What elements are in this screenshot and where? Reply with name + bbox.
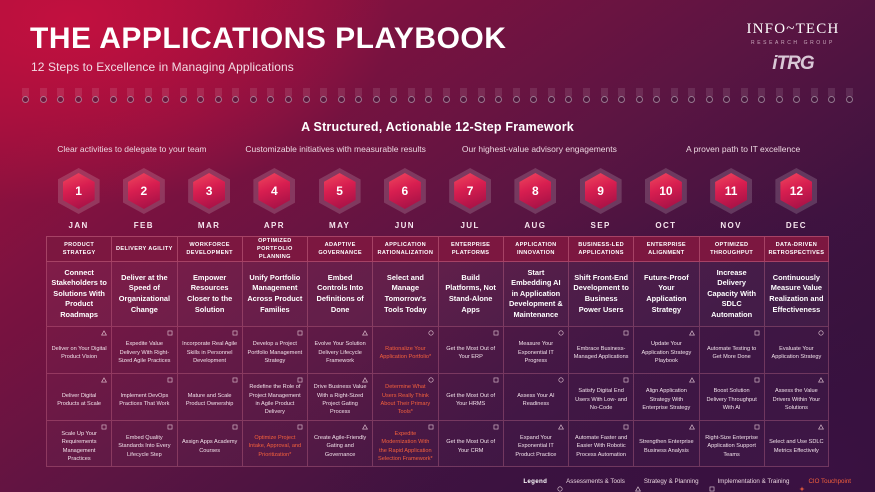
circle-icon [557,479,563,485]
headline-10[interactable]: Increase Delivery Capacity With SDLC Aut… [699,262,764,326]
initiative-0-0[interactable]: Deliver on Your Digital Product Vision [46,326,111,373]
table-row: Deliver Digital Products at ScaleImpleme… [46,373,829,420]
initiative-cell: Expedite Modernization With the Rapid Ap… [372,420,437,467]
initiative-label: Automate Testing to Get More Done [704,345,760,362]
legend: Legend Assessments & ToolsStrategy & Pla… [523,478,851,485]
initiative-label: Scale Up Your Requirements Management Pr… [51,430,107,464]
initiative-1-1[interactable]: Implement DevOps Practices That Work [111,373,176,420]
perforation-hole [671,96,678,103]
page-title: THE APPLICATIONS PLAYBOOK [30,24,506,54]
perforation-hole [215,96,222,103]
triangle-icon [818,424,824,430]
initiative-cell: Automate Testing to Get More Done [699,326,764,373]
initiative-cell: Embed Quality Standards Into Every Lifec… [111,420,176,467]
square-icon [754,377,760,383]
initiative-1-11[interactable]: Assess the Value Drivers Within Your Sol… [764,373,829,420]
headline-cell: Deliver at the Speed of Organizational C… [111,262,176,326]
initiative-label: Get the Most Out of Your HRMS [443,392,499,409]
category-cell: DATA-DRIVEN RETROSPECTIVES [764,236,829,262]
initiative-1-6[interactable]: Get the Most Out of Your HRMS [438,373,503,420]
square-icon [428,424,434,430]
perforation-hole [57,96,64,103]
perforation-strip [0,88,875,106]
framework-subtitle-1: Customizable initiatives with measurable… [234,144,438,154]
initiative-rows: Deliver on Your Digital Product VisionEx… [46,326,829,467]
month-number: 11 [725,184,738,198]
headline-label: Connect Stakeholders to Solutions With P… [51,268,107,321]
month-badge-may[interactable]: 5MAY [307,168,372,232]
perforation-hole [478,96,485,103]
month-badge-feb[interactable]: 2FEB [111,168,176,232]
headline-cell: Shift Front-End Development to Business … [568,262,633,326]
category-header-0[interactable]: PRODUCT STRATEGY [46,236,111,262]
perforation-hole [110,96,117,103]
initiative-label: Drive Business Value With a Right-Sized … [312,383,368,417]
headline-cell: Select and Manage Tomorrow's Tools Today [372,262,437,326]
square-icon [709,479,715,485]
hexagon-badge: 2 [123,168,165,214]
initiative-0-7[interactable]: Measure Your Exponential IT Progress [503,326,568,373]
framework-grid: PRODUCT STRATEGYDELIVERY AGILITYWORKFORC… [46,236,829,467]
initiative-0-9[interactable]: Update Your Application Strategy Playboo… [633,326,698,373]
initiative-cell: Determine What Users Really Think About … [372,373,437,420]
square-icon [493,330,499,336]
legend-label: Implementation & Training [718,478,790,485]
month-label: JAN [69,221,89,230]
category-header-7[interactable]: APPLICATION INNOVATION [503,236,568,262]
perforation-hole [40,96,47,103]
square-icon [754,424,760,430]
headline-3[interactable]: Unify Portfolio Management Across Produc… [242,262,307,326]
initiative-1-3[interactable]: Redefine the Role of Project Management … [242,373,307,420]
category-header-8[interactable]: BUSINESS-LED APPLICATIONS [568,236,633,262]
initiative-cell: Automate Faster and Easier With Robotic … [568,420,633,467]
triangle-icon [635,479,641,485]
headline-label: Shift Front-End Development to Business … [573,273,629,315]
circle-icon [558,377,564,383]
initiative-1-10[interactable]: Boost Solution Delivery Throughput With … [699,373,764,420]
month-label: MAR [198,221,220,230]
headline-5[interactable]: Select and Manage Tomorrow's Tools Today [372,262,437,326]
initiative-2-6[interactable]: Get the Most Out of Your CRM [438,420,503,467]
initiative-2-8[interactable]: Automate Faster and Easier With Robotic … [568,420,633,467]
month-number: 8 [532,184,539,198]
perforation-hole [460,96,467,103]
initiative-label: Boost Solution Delivery Throughput With … [704,387,760,412]
category-header-5[interactable]: APPLICATION RATIONALIZATION [372,236,437,262]
category-label: WORKFORCE DEVELOPMENT [180,241,240,257]
hexagon-badge: 11 [710,168,752,214]
initiative-0-6[interactable]: Get the Most Out of Your ERP [438,326,503,373]
initiative-cell: Select and Use SDLC Metrics Effectively [764,420,829,467]
category-header-9[interactable]: ENTERPRISE ALIGNMENT [633,236,698,262]
page-subtitle: 12 Steps to Excellence in Managing Appli… [31,60,294,74]
hexagon-badge: 1 [58,168,100,214]
triangle-icon [558,424,564,430]
category-cell: PRODUCT STRATEGY [46,236,111,262]
triangle-icon [818,377,824,383]
square-icon [623,330,629,336]
month-badge-row: 1JAN2FEB3MAR4APR5MAY6JUN7JUL8AUG9SEP10OC… [46,168,829,232]
month-badge-sep[interactable]: 9SEP [568,168,633,232]
month-badge-nov[interactable]: 11NOV [699,168,764,232]
initiative-cell: Drive Business Value With a Right-Sized … [307,373,372,420]
initiative-label: Mature and Scale Product Ownership [182,392,238,409]
month-badge-apr[interactable]: 4APR [242,168,307,232]
initiative-label: Evaluate Your Application Strategy [769,345,824,362]
framework-subtitle-2: Our highest-value advisory engagements [438,144,642,154]
framework-subtitle-0: Clear activities to delegate to your tea… [30,144,234,154]
initiative-cell: Scale Up Your Requirements Management Pr… [46,420,111,467]
month-badge-jan[interactable]: 1JAN [46,168,111,232]
month-number: 3 [206,184,213,198]
initiative-cell: Embrace Business-Managed Applications [568,326,633,373]
hexagon-badge: 12 [775,168,817,214]
perforation-hole [320,96,327,103]
category-cell: ENTERPRISE ALIGNMENT [633,236,698,262]
perforation-hole [22,96,29,103]
perforation-hole [583,96,590,103]
perforation-hole [338,96,345,103]
circle-icon [818,330,824,336]
headline-label: Deliver at the Speed of Organizational C… [116,273,172,315]
initiative-cell: Create Agile-Friendly Gating and Governa… [307,420,372,467]
category-header-1[interactable]: DELIVERY AGILITY [111,236,176,262]
initiative-label: Implement DevOps Practices That Work [116,392,172,409]
headline-label: Future-Proof Your Application Strategy [638,273,694,315]
initiative-1-8[interactable]: Satisfy Digital End Users With Low- and … [568,373,633,420]
initiative-1-5[interactable]: Determine What Users Really Think About … [372,373,437,420]
initiative-2-11[interactable]: Select and Use SDLC Metrics Effectively [764,420,829,467]
category-cell: WORKFORCE DEVELOPMENT [177,236,242,262]
headline-11[interactable]: Continuously Measure Value Realization a… [764,262,829,326]
square-icon [232,330,238,336]
hexagon-badge: 4 [253,168,295,214]
category-cell: DELIVERY AGILITY [111,236,176,262]
perforation-hole [425,96,432,103]
circle-icon [558,330,564,336]
perforation-hole [162,96,169,103]
initiative-cell: Strengthen Enterprise Business Analysis [633,420,698,467]
logo-itrg: iTRG [733,53,853,75]
headline-8[interactable]: Shift Front-End Development to Business … [568,262,633,326]
initiative-cell: Align Application Strategy With Enterpri… [633,373,698,420]
square-icon [101,424,107,430]
headline-cell: Future-Proof Your Application Strategy [633,262,698,326]
initiative-2-5[interactable]: Expedite Modernization With the Rapid Ap… [372,420,437,467]
initiative-cell: Assess the Value Drivers Within Your Sol… [764,373,829,420]
initiative-label: Create Agile-Friendly Gating and Governa… [312,434,368,459]
category-header-4[interactable]: ADAPTIVE GOVERNANCE [307,236,372,262]
legend-item-assessment: Assessments & Tools [557,478,625,485]
category-cell: BUSINESS-LED APPLICATIONS [568,236,633,262]
headline-9[interactable]: Future-Proof Your Application Strategy [633,262,698,326]
perforation-hole [285,96,292,103]
hexagon-badge: 6 [384,168,426,214]
initiative-label: Right-Size Enterprise Application Suppor… [704,434,760,459]
headline-cell: Build Platforms, Not Stand-Alone Apps [438,262,503,326]
initiative-2-10[interactable]: Right-Size Enterprise Application Suppor… [699,420,764,467]
initiative-1-4[interactable]: Drive Business Value With a Right-Sized … [307,373,372,420]
month-number: 12 [790,184,803,198]
month-label: JUL [460,221,479,230]
square-icon [754,330,760,336]
initiative-cell: Get the Most Out of Your HRMS [438,373,503,420]
month-number: 2 [141,184,148,198]
headline-label: Start Embedding AI in Application Develo… [508,268,564,321]
month-badge-jul[interactable]: 7JUL [438,168,503,232]
perforation-hole [530,96,537,103]
hexagon-badge: 9 [580,168,622,214]
legend-label: CIO Touchpoint [808,478,851,485]
month-label: AUG [524,221,546,230]
perforation-hole [565,96,572,103]
headline-cell: Increase Delivery Capacity With SDLC Aut… [699,262,764,326]
initiative-label: Update Your Application Strategy Playboo… [638,340,694,365]
perforation-hole [846,96,853,103]
initiative-2-2[interactable]: Assign Apps Academy Courses [177,420,242,467]
initiative-label: Align Application Strategy With Enterpri… [638,387,694,412]
category-header-row: PRODUCT STRATEGYDELIVERY AGILITYWORKFORC… [46,236,829,262]
perforation-hole [92,96,99,103]
initiative-label: Develop a Project Portfolio Management S… [247,340,303,365]
square-icon [493,424,499,430]
month-label: DEC [786,221,807,230]
perforation-hole [267,96,274,103]
initiative-label: Expand Your Exponential IT Product Pract… [508,434,564,459]
category-label: BUSINESS-LED APPLICATIONS [571,241,631,257]
initiative-label: Deliver on Your Digital Product Vision [51,345,107,362]
category-header-11[interactable]: DATA-DRIVEN RETROSPECTIVES [764,236,829,262]
perforation-hole [793,96,800,103]
initiative-label: Strengthen Enterprise Business Analysis [638,438,694,455]
square-icon [167,377,173,383]
initiative-cell: Rationalize Your Application Portfolio* [372,326,437,373]
initiative-label: Satisfy Digital End Users With Low- and … [573,387,629,412]
initiative-cell: Assign Apps Academy Courses [177,420,242,467]
square-icon [623,424,629,430]
initiative-cell: Update Your Application Strategy Playboo… [633,326,698,373]
perforation-hole [443,96,450,103]
initiative-1-2[interactable]: Mature and Scale Product Ownership [177,373,242,420]
initiative-2-7[interactable]: Expand Your Exponential IT Product Pract… [503,420,568,467]
square-icon [297,424,303,430]
legend-item-cio: CIO Touchpoint [799,478,851,485]
headline-6[interactable]: Build Platforms, Not Stand-Alone Apps [438,262,503,326]
month-badge-dec[interactable]: 12DEC [764,168,829,232]
hexagon-badge: 3 [188,168,230,214]
headline-label: Increase Delivery Capacity With SDLC Aut… [704,268,760,321]
brand-logo: INFO~TECH RESEARCH GROUP iTRG [733,22,853,75]
perforation-hole [636,96,643,103]
initiative-0-10[interactable]: Automate Testing to Get More Done [699,326,764,373]
initiative-cell: Redefine the Role of Project Management … [242,373,307,420]
month-badge-jun[interactable]: 6JUN [372,168,437,232]
perforation-hole [811,96,818,103]
month-number: 1 [75,184,82,198]
initiative-label: Assign Apps Academy Courses [182,438,238,455]
logo-tagline: RESEARCH GROUP [733,40,853,46]
initiative-cell: Incorporate Real Agile Skills in Personn… [177,326,242,373]
category-label: DATA-DRIVEN RETROSPECTIVES [767,241,826,257]
initiative-label: Expedite Value Delivery With Right-Sized… [116,340,172,365]
month-number: 10 [659,184,672,198]
logo-wordmark: INFO~TECH [733,22,853,38]
initiative-label: Automate Faster and Easier With Robotic … [573,434,629,459]
initiative-0-11[interactable]: Evaluate Your Application Strategy [764,326,829,373]
initiative-2-9[interactable]: Strengthen Enterprise Business Analysis [633,420,698,467]
perforation-hole [373,96,380,103]
perforation-hole [653,96,660,103]
headline-cell: Empower Resources Closer to the Solution [177,262,242,326]
framework-subtitles: Clear activities to delegate to your tea… [30,144,845,154]
initiative-cell: Assess Your AI Readiness [503,373,568,420]
initiative-cell: Optimize Project Intake, Approval, and P… [242,420,307,467]
headline-cell: Unify Portfolio Management Across Produc… [242,262,307,326]
month-badge-aug[interactable]: 8AUG [503,168,568,232]
perforation-hole [145,96,152,103]
headline-2[interactable]: Empower Resources Closer to the Solution [177,262,242,326]
initiative-cell: Evolve Your Solution Delivery Lifecycle … [307,326,372,373]
hexagon-badge: 8 [514,168,556,214]
headline-7[interactable]: Start Embedding AI in Application Develo… [503,262,568,326]
playbook-poster: THE APPLICATIONS PLAYBOOK 12 Steps to Ex… [0,0,875,492]
square-icon [232,424,238,430]
month-label: FEB [134,221,154,230]
initiative-cell: Get the Most Out of Your ERP [438,326,503,373]
initiative-2-4[interactable]: Create Agile-Friendly Gating and Governa… [307,420,372,467]
triangle-icon [362,377,368,383]
category-label: ENTERPRISE ALIGNMENT [636,241,696,257]
headline-label: Empower Resources Closer to the Solution [182,273,238,315]
triangle-icon [689,377,695,383]
perforation-hole [127,96,134,103]
category-label: ENTERPRISE PLATFORMS [441,241,501,257]
hexagon-badge: 5 [319,168,361,214]
category-header-3[interactable]: OPTIMIZED PORTFOLIO PLANNING [242,236,307,262]
legend-label: Strategy & Planning [644,478,699,485]
month-label: MAY [329,221,350,230]
initiative-cell: Right-Size Enterprise Application Suppor… [699,420,764,467]
perforation-holes [22,96,853,106]
month-label: JUN [395,221,415,230]
initiative-label: Get the Most Out of Your ERP [443,345,499,362]
triangle-icon [101,330,107,336]
initiative-cell: Satisfy Digital End Users With Low- and … [568,373,633,420]
perforation-hole [741,96,748,103]
headline-cell: Start Embedding AI in Application Develo… [503,262,568,326]
initiative-label: Embrace Business-Managed Applications [573,345,629,362]
perforation-hole [408,96,415,103]
initiative-cell: Measure Your Exponential IT Progress [503,326,568,373]
perforation-hole [723,96,730,103]
initiative-cell: Deliver on Your Digital Product Vision [46,326,111,373]
legend-title: Legend [523,478,547,485]
legend-item-strategy: Strategy & Planning [635,478,699,485]
category-header-10[interactable]: OPTIMIZED THROUGHPUT [699,236,764,262]
perforation-hole [601,96,608,103]
category-cell: OPTIMIZED PORTFOLIO PLANNING [242,236,307,262]
initiative-0-2[interactable]: Incorporate Real Agile Skills in Personn… [177,326,242,373]
initiative-label: Measure Your Exponential IT Progress [508,340,564,365]
initiative-1-0[interactable]: Deliver Digital Products at Scale [46,373,111,420]
initiative-1-7[interactable]: Assess Your AI Readiness [503,373,568,420]
perforation-hole [548,96,555,103]
hexagon-badge: 7 [449,168,491,214]
initiative-0-1[interactable]: Expedite Value Delivery With Right-Sized… [111,326,176,373]
perforation-hole [688,96,695,103]
category-cell: APPLICATION INNOVATION [503,236,568,262]
month-badge-oct[interactable]: 10OCT [633,168,698,232]
headline-cell: Connect Stakeholders to Solutions With P… [46,262,111,326]
category-label: APPLICATION RATIONALIZATION [375,241,435,257]
perforation-hole [495,96,502,103]
month-badge-mar[interactable]: 3MAR [177,168,242,232]
initiative-1-9[interactable]: Align Application Strategy With Enterpri… [633,373,698,420]
initiative-0-5[interactable]: Rationalize Your Application Portfolio* [372,326,437,373]
perforation-hole [250,96,257,103]
category-label: ADAPTIVE GOVERNANCE [310,241,370,257]
perforation-hole [303,96,310,103]
initiative-0-3[interactable]: Develop a Project Portfolio Management S… [242,326,307,373]
initiative-2-0[interactable]: Scale Up Your Requirements Management Pr… [46,420,111,467]
perforation-hole [828,96,835,103]
initiative-cell: Get the Most Out of Your CRM [438,420,503,467]
perforation-hole [513,96,520,103]
headline-label: Select and Manage Tomorrow's Tools Today [377,273,433,315]
initiative-0-8[interactable]: Embrace Business-Managed Applications [568,326,633,373]
framework-subtitle-3: A proven path to IT excellence [641,144,845,154]
initiative-0-4[interactable]: Evolve Your Solution Delivery Lifecycle … [307,326,372,373]
perforation-hole [197,96,204,103]
square-icon [493,377,499,383]
perforation-hole [390,96,397,103]
legend-items: Assessments & ToolsStrategy & PlanningIm… [557,478,851,485]
category-header-2[interactable]: WORKFORCE DEVELOPMENT [177,236,242,262]
headline-4[interactable]: Embed Controls Into Definitions of Done [307,262,372,326]
perforation-hole [758,96,765,103]
triangle-icon [101,377,107,383]
month-number: 9 [597,184,604,198]
initiative-label: Evolve Your Solution Delivery Lifecycle … [312,340,368,365]
legend-item-implementation: Implementation & Training [709,478,790,485]
initiative-2-1[interactable]: Embed Quality Standards Into Every Lifec… [111,420,176,467]
perforation-hole [75,96,82,103]
headline-cell: Continuously Measure Value Realization a… [764,262,829,326]
perforation-hole [232,96,239,103]
headline-0[interactable]: Connect Stakeholders to Solutions With P… [46,262,111,326]
initiative-cell: Implement DevOps Practices That Work [111,373,176,420]
initiative-2-3[interactable]: Optimize Project Intake, Approval, and P… [242,420,307,467]
initiative-label: Deliver Digital Products at Scale [51,392,107,409]
category-cell: ADAPTIVE GOVERNANCE [307,236,372,262]
month-label: APR [264,221,285,230]
initiative-label: Get the Most Out of Your CRM [443,438,499,455]
initiative-cell: Boost Solution Delivery Throughput With … [699,373,764,420]
perforation-hole [180,96,187,103]
category-header-6[interactable]: ENTERPRISE PLATFORMS [438,236,503,262]
initiative-cell: Mature and Scale Product Ownership [177,373,242,420]
month-number: 7 [467,184,474,198]
category-cell: OPTIMIZED THROUGHPUT [699,236,764,262]
perforation-hole [618,96,625,103]
headline-1[interactable]: Deliver at the Speed of Organizational C… [111,262,176,326]
initiative-label: Incorporate Real Agile Skills in Personn… [182,340,238,365]
hexagon-badge: 10 [645,168,687,214]
table-row: Scale Up Your Requirements Management Pr… [46,420,829,467]
initiative-label: Redefine the Role of Project Management … [247,383,303,417]
square-icon [232,377,238,383]
